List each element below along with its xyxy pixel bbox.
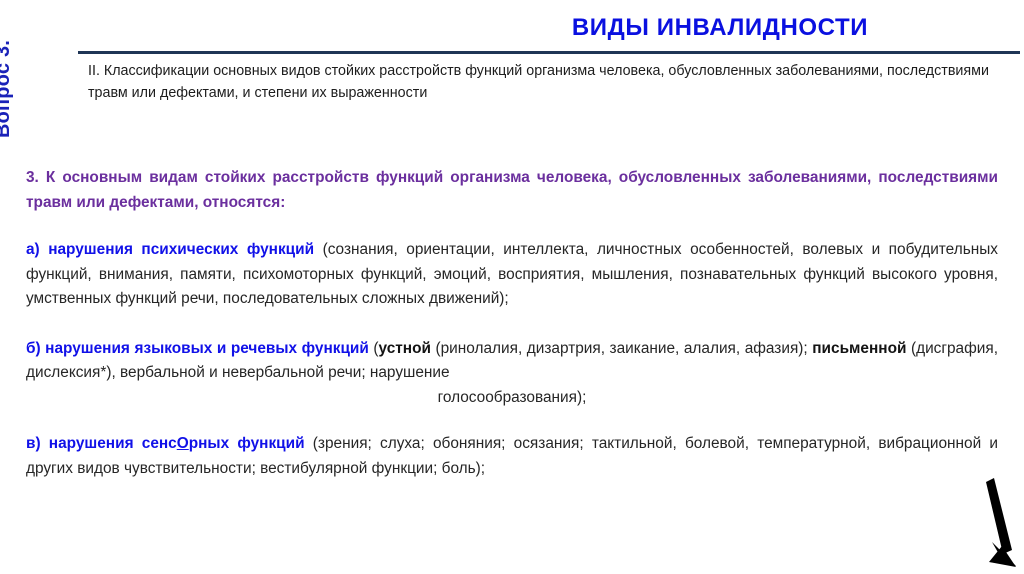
- list-item-c: в) нарушения сенсОрных функций (зрения; …: [26, 432, 998, 481]
- list-item-a-key: а) нарушения психических функций: [26, 241, 314, 258]
- list-item-c-key-pre: в) нарушения сенс: [26, 435, 177, 452]
- slide-subtitle: II. Классификации основных видов стойких…: [88, 60, 1016, 104]
- slide-canvas: Вопрос 3. ВИДЫ ИНВАЛИДНОСТИ II. Классифи…: [0, 0, 1024, 574]
- list-item-c-key: в) нарушения сенсОрных функций: [26, 435, 305, 452]
- list-item-b-rest-1: (: [369, 340, 379, 357]
- header-divider: [78, 51, 1020, 54]
- list-item-b-rest-2: (ринолалия, дизартрия, заикание, алалия,…: [431, 340, 812, 357]
- spacer-b: [26, 410, 998, 432]
- list-item-a: а) нарушения психических функций (сознан…: [26, 238, 998, 312]
- list-item-b-key: б) нарушения языковых и речевых функций: [26, 340, 369, 357]
- page-title: ВИДЫ ИНВАЛИДНОСТИ: [430, 14, 1010, 42]
- body-content: 3. К основным видам стойких расстройств …: [26, 166, 998, 481]
- list-item-b-tail: голосообразования);: [26, 386, 998, 411]
- spacer-a: [26, 312, 998, 337]
- lead-paragraph: 3. К основным видам стойких расстройств …: [26, 166, 998, 215]
- list-item-b: б) нарушения языковых и речевых функций …: [26, 337, 998, 411]
- spacer-lead: [26, 215, 998, 238]
- down-right-arrow-icon: [972, 476, 1024, 572]
- list-item-c-stress-vowel: О: [177, 435, 189, 452]
- list-item-c-key-post: рных функций: [189, 435, 305, 452]
- list-item-b-bold-written: письменной: [812, 340, 906, 357]
- question-side-label: Вопрос 3.: [0, 24, 16, 154]
- list-item-b-bold-oral: устной: [379, 340, 431, 357]
